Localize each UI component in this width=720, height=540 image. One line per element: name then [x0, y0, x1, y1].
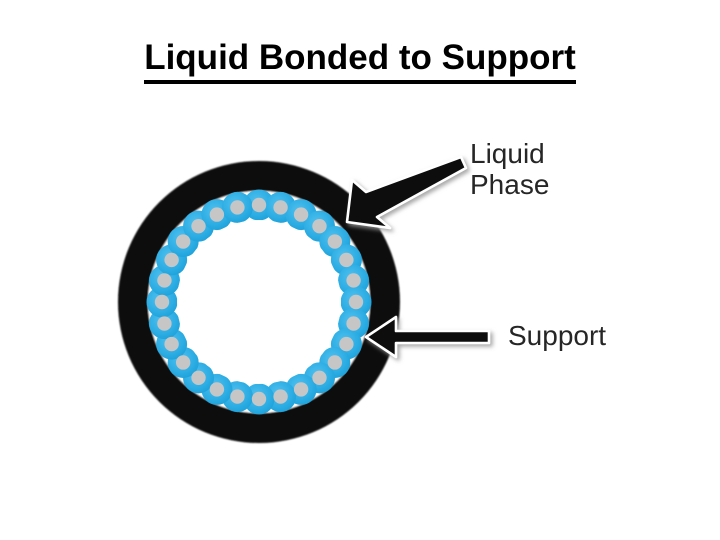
support-particle-dot	[157, 273, 171, 287]
support-particle-dot	[294, 207, 308, 221]
support-particle-dot	[294, 382, 308, 396]
support-particle-dot	[176, 355, 190, 369]
support-particle-dot	[339, 253, 353, 267]
support-particle-dot	[210, 382, 224, 396]
support-particle-dot	[210, 207, 224, 221]
support-particle-dot	[273, 389, 287, 403]
support-particle-dot	[312, 219, 326, 233]
support-particle-dot	[230, 389, 244, 403]
support-particle-dot	[164, 337, 178, 351]
support-particle-dot	[328, 355, 342, 369]
diagram-support-cross-section	[0, 0, 720, 540]
callout-line: Liquid	[470, 138, 549, 169]
liquid-phase-arrow	[347, 157, 466, 228]
core-void	[177, 220, 341, 384]
support-particle-dot	[230, 200, 244, 214]
support-particle-dot	[349, 295, 363, 309]
support-particle-dot	[157, 316, 171, 330]
support-particle-dot	[164, 253, 178, 267]
support-particle-dot	[339, 337, 353, 351]
callout-label-support: Support	[508, 320, 606, 351]
callout-line: Phase	[470, 169, 549, 200]
support-particle-dot	[346, 316, 360, 330]
support-particle-dot	[191, 219, 205, 233]
support-particle-dot	[273, 200, 287, 214]
support-particle-dot	[176, 234, 190, 248]
slide-canvas: Liquid Bonded to Support	[0, 0, 720, 540]
callout-label-liquid-phase: Liquid Phase	[470, 138, 549, 201]
support-particle-dot	[312, 371, 326, 385]
callout-line: Support	[508, 320, 606, 351]
support-particle-dot	[155, 295, 169, 309]
support-particle-dot	[252, 198, 266, 212]
support-particle-dot	[346, 273, 360, 287]
support-particle-dot	[328, 234, 342, 248]
support-particle-dot	[252, 392, 266, 406]
support-particle-dot	[191, 371, 205, 385]
